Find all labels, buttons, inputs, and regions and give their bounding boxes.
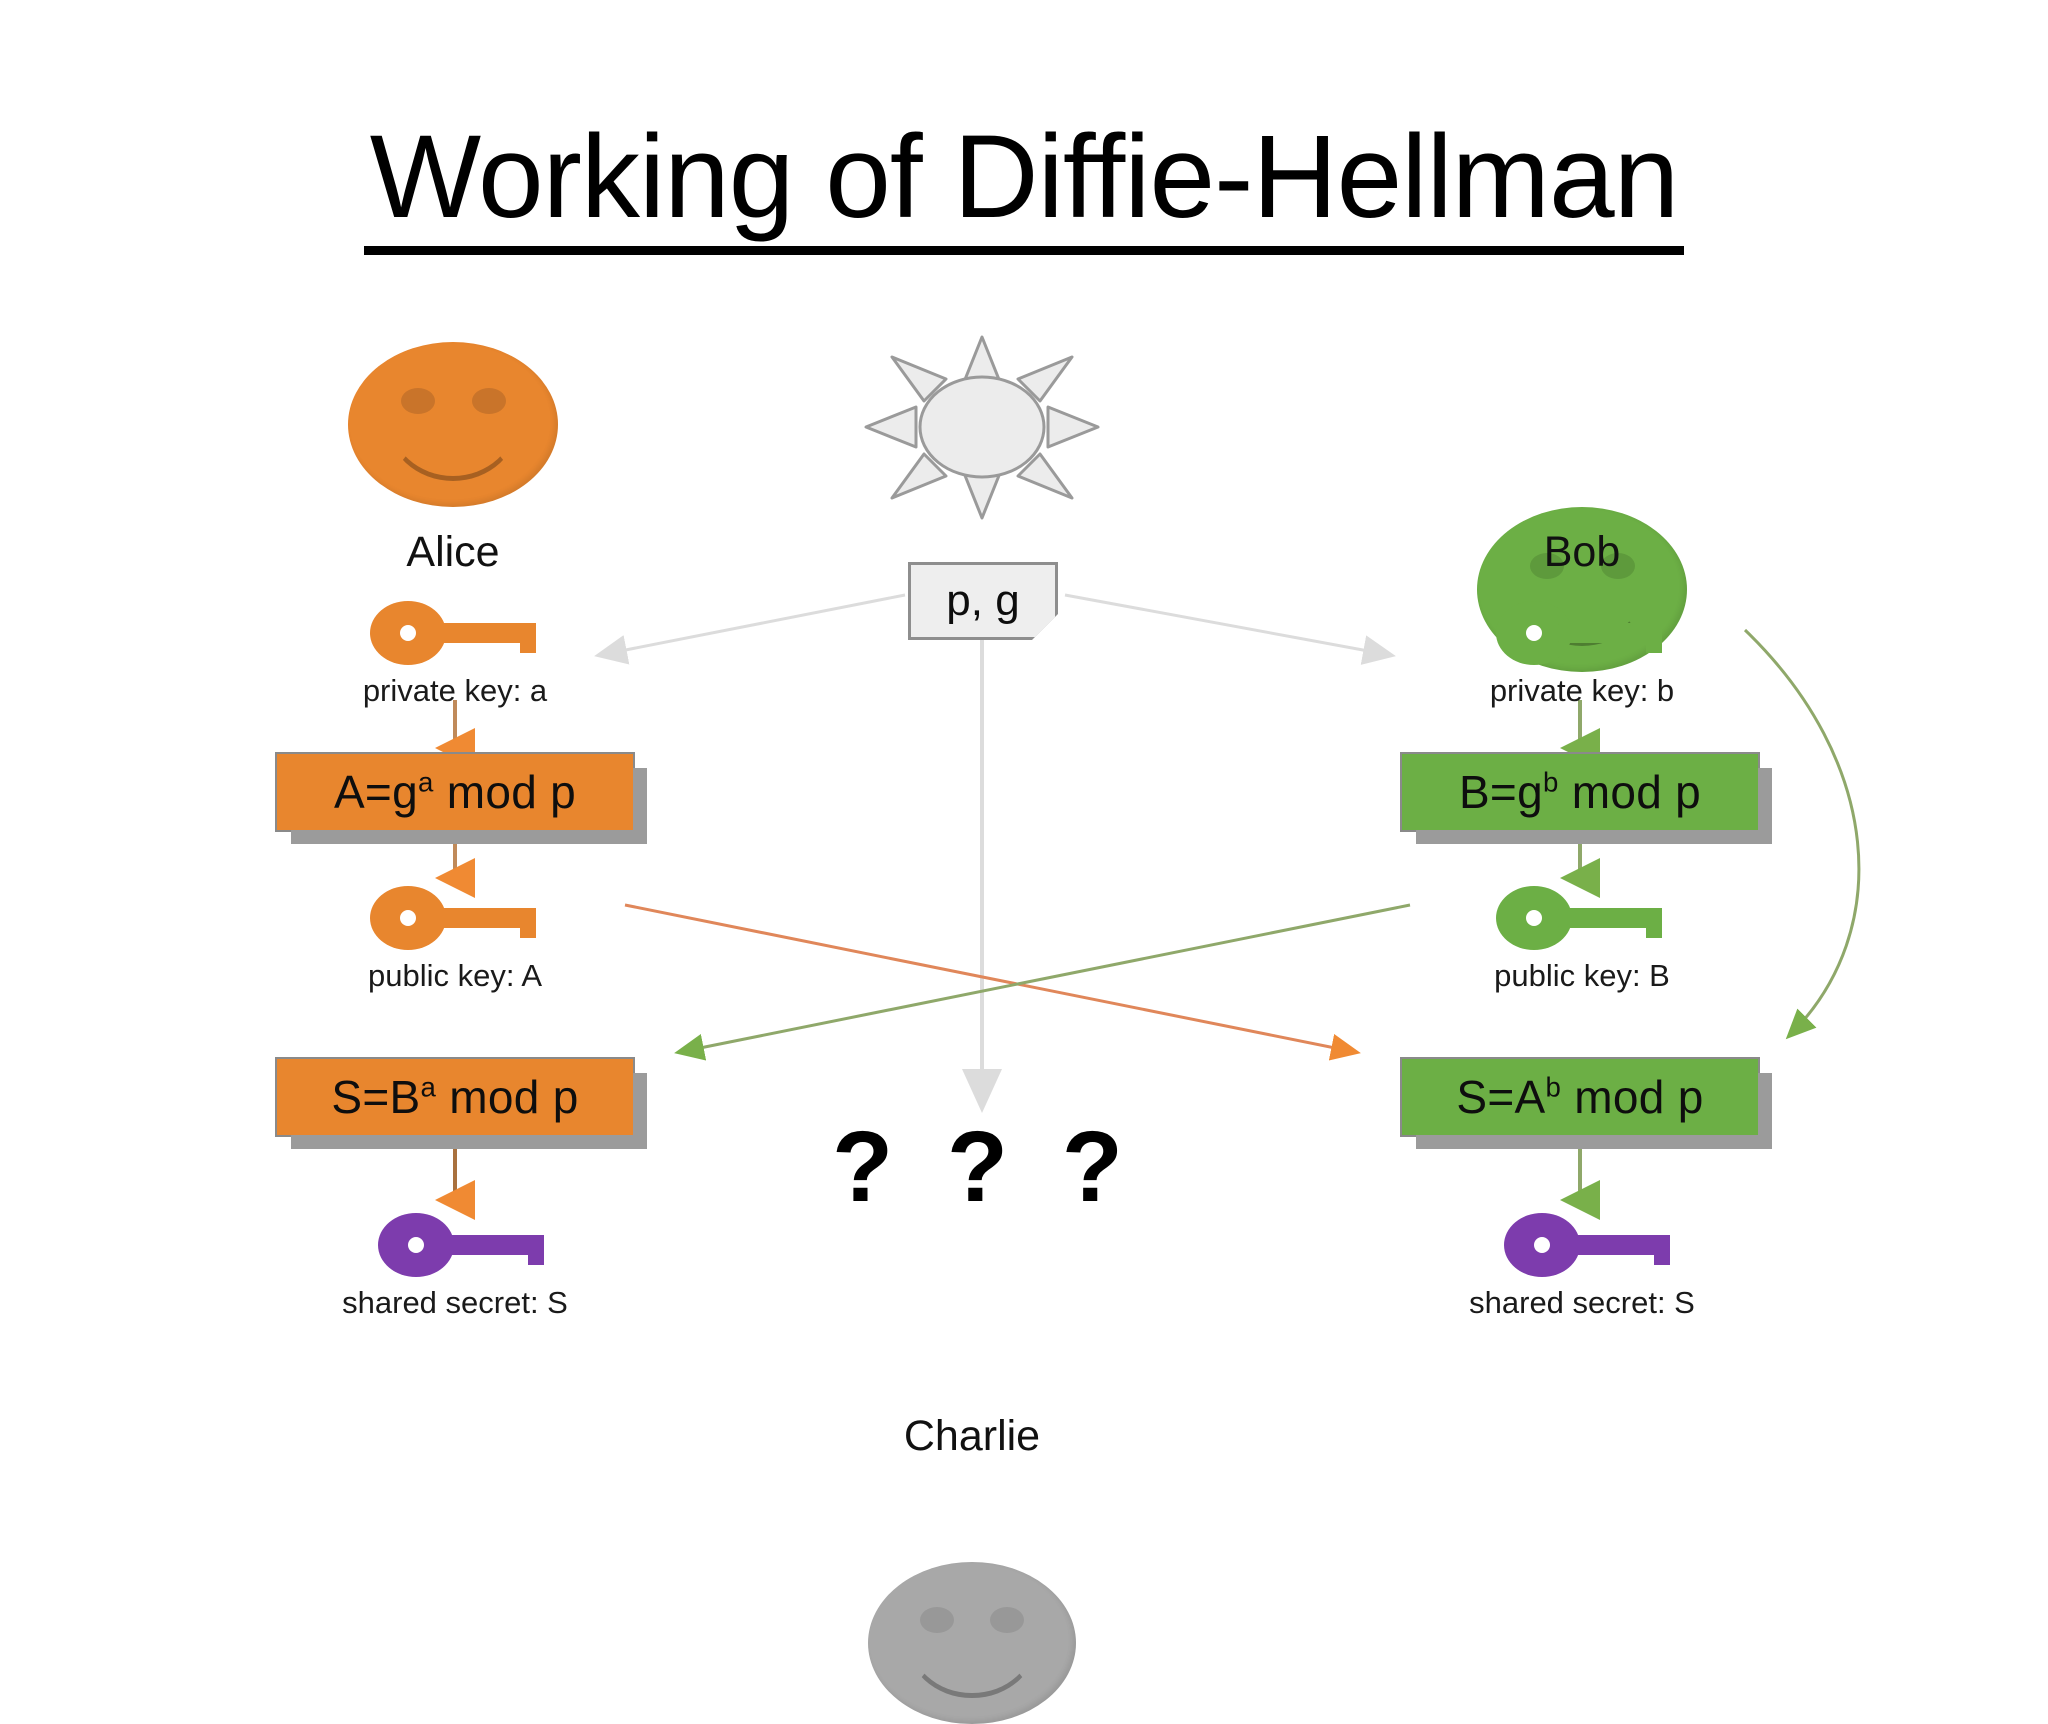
box-shadow-bottom	[291, 1135, 647, 1149]
sun-burst-icon	[862, 335, 1102, 520]
alice-public-key-icon	[370, 885, 542, 956]
alice-public-key-caption: public key: A	[305, 958, 605, 994]
public-params-document[interactable]: p, g	[908, 562, 1058, 640]
page-title: Working of Diffie-Hellman	[0, 118, 2048, 255]
box-shadow-bottom	[1416, 830, 1772, 844]
arrow-pg-to-alice	[600, 595, 905, 655]
bob-secret-formula-text: S=Ab mod p	[1456, 1070, 1703, 1124]
box-shadow-bottom	[291, 830, 647, 844]
alice-private-key-caption: private key: a	[305, 673, 605, 709]
bob-shared-secret-key-icon	[1504, 1212, 1676, 1283]
charlie-eye-right-icon	[990, 1607, 1024, 1633]
alice-mouth-icon	[386, 415, 520, 481]
alice-private-key-icon	[370, 600, 542, 671]
arrow-pg-to-bob	[1065, 595, 1390, 655]
alice-eye-right-icon	[472, 388, 506, 414]
bob-public-key-icon	[1496, 885, 1668, 956]
public-params-label: p, g	[946, 576, 1019, 626]
bob-public-formula-text: B=gb mod p	[1459, 765, 1701, 819]
charlie-mouth-icon	[905, 1633, 1038, 1698]
document-fold	[1032, 614, 1058, 640]
page-title-text: Working of Diffie-Hellman	[364, 118, 1684, 255]
alice-name-label: Alice	[303, 528, 603, 577]
bob-public-key-caption: public key: B	[1432, 958, 1732, 994]
alice-eye-left-icon	[401, 388, 435, 414]
alice-shared-secret-key-icon	[378, 1212, 550, 1283]
bob-private-key-caption: private key: b	[1432, 673, 1732, 709]
bob-public-formula-box: B=gb mod p	[1400, 752, 1760, 832]
arrow-alice-pubkey-to-bob	[625, 905, 1355, 1052]
alice-secret-formula-box: S=Ba mod p	[275, 1057, 635, 1137]
arrow-bob-pubkey-to-alice	[680, 905, 1410, 1052]
alice-face-icon	[348, 342, 558, 507]
charlie-name-label: Charlie	[822, 1412, 1122, 1461]
bob-private-key-icon	[1496, 600, 1668, 671]
box-shadow-bottom	[1416, 1135, 1772, 1149]
bob-shared-secret-caption: shared secret: S	[1432, 1285, 1732, 1321]
charlie-question-marks: ? ? ?	[832, 1110, 1132, 1225]
alice-public-formula-box: A=ga mod p	[275, 752, 635, 832]
charlie-face-icon	[868, 1562, 1076, 1724]
alice-public-formula-text: A=ga mod p	[334, 765, 576, 819]
alice-secret-formula-text: S=Ba mod p	[331, 1070, 578, 1124]
alice-shared-secret-caption: shared secret: S	[305, 1285, 605, 1321]
bob-name-label: Bob	[1432, 528, 1732, 577]
charlie-eye-left-icon	[920, 1607, 954, 1633]
bob-secret-formula-box: S=Ab mod p	[1400, 1057, 1760, 1137]
